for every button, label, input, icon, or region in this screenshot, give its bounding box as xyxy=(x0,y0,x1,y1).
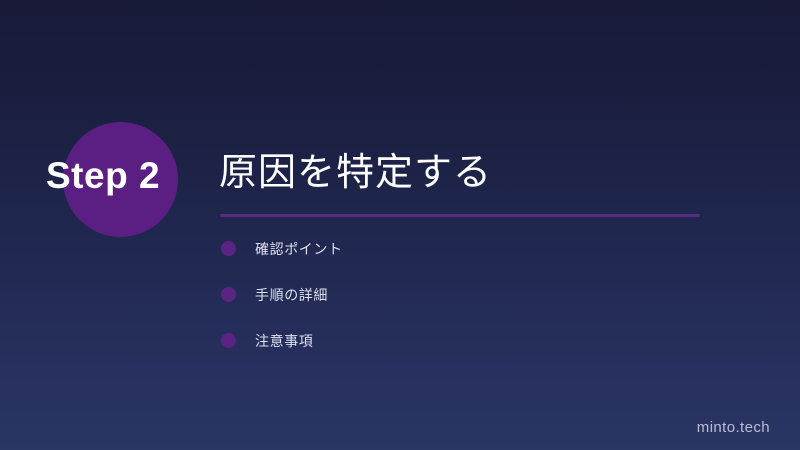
title-divider xyxy=(220,214,700,217)
bullet-dot-icon xyxy=(221,287,236,302)
step-label: Step 2 xyxy=(46,152,160,200)
bullet-dot-icon xyxy=(221,333,236,348)
page-title: 原因を特定する xyxy=(219,148,492,198)
list-item: 確認ポイント xyxy=(219,239,343,258)
list-item: 手順の詳細 xyxy=(219,285,343,304)
footer-brand-watermark: minto.tech xyxy=(697,419,770,436)
bullet-list: 確認ポイント 手順の詳細 注意事項 xyxy=(219,239,343,377)
list-item: 注意事項 xyxy=(219,331,343,350)
bullet-dot-icon xyxy=(221,241,236,256)
list-item-label: 手順の詳細 xyxy=(255,285,328,305)
list-item-label: 確認ポイント xyxy=(255,239,343,259)
list-item-label: 注意事項 xyxy=(255,331,313,351)
presentation-slide: Step 2 原因を特定する 確認ポイント 手順の詳細 注意事項 minto.t… xyxy=(0,0,800,450)
